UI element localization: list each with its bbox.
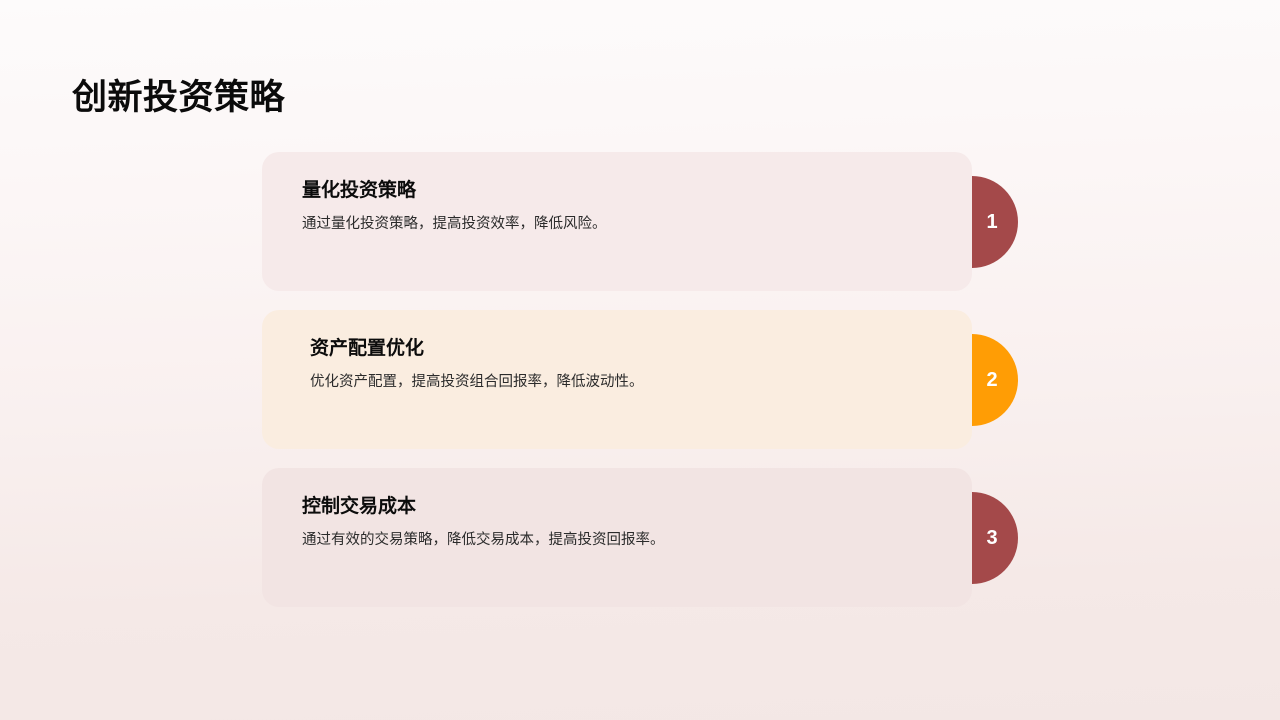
card-number-label: 3 bbox=[986, 528, 997, 548]
strategy-card-1[interactable]: 量化投资策略 通过量化投资策略，提高投资效率，降低风险。 bbox=[262, 152, 972, 291]
card-description: 通过有效的交易策略，降低交易成本，提高投资回报率。 bbox=[302, 529, 936, 551]
card-description: 通过量化投资策略，提高投资效率，降低风险。 bbox=[302, 213, 936, 235]
card-description: 优化资产配置，提高投资组合回报率，降低波动性。 bbox=[310, 371, 936, 393]
card-number-badge-1: 1 bbox=[972, 176, 1018, 268]
strategy-card-list: 1 量化投资策略 通过量化投资策略，提高投资效率，降低风险。 2 资产配置优化 … bbox=[262, 152, 1018, 607]
card-number-label: 1 bbox=[986, 212, 997, 232]
list-item[interactable]: 3 控制交易成本 通过有效的交易策略，降低交易成本，提高投资回报率。 bbox=[262, 468, 1018, 607]
strategy-card-2[interactable]: 资产配置优化 优化资产配置，提高投资组合回报率，降低波动性。 bbox=[262, 310, 972, 449]
list-item[interactable]: 2 资产配置优化 优化资产配置，提高投资组合回报率，降低波动性。 bbox=[262, 310, 1018, 449]
card-title: 资产配置优化 bbox=[310, 336, 936, 362]
card-title: 控制交易成本 bbox=[302, 494, 936, 520]
page-title: 创新投资策略 bbox=[72, 75, 285, 121]
card-number-badge-3: 3 bbox=[972, 492, 1018, 584]
card-number-badge-2: 2 bbox=[972, 334, 1018, 426]
strategy-card-3[interactable]: 控制交易成本 通过有效的交易策略，降低交易成本，提高投资回报率。 bbox=[262, 468, 972, 607]
list-item[interactable]: 1 量化投资策略 通过量化投资策略，提高投资效率，降低风险。 bbox=[262, 152, 1018, 291]
card-title: 量化投资策略 bbox=[302, 178, 936, 204]
slide-canvas: 创新投资策略 1 量化投资策略 通过量化投资策略，提高投资效率，降低风险。 2 … bbox=[0, 0, 1280, 720]
card-number-label: 2 bbox=[986, 370, 997, 390]
